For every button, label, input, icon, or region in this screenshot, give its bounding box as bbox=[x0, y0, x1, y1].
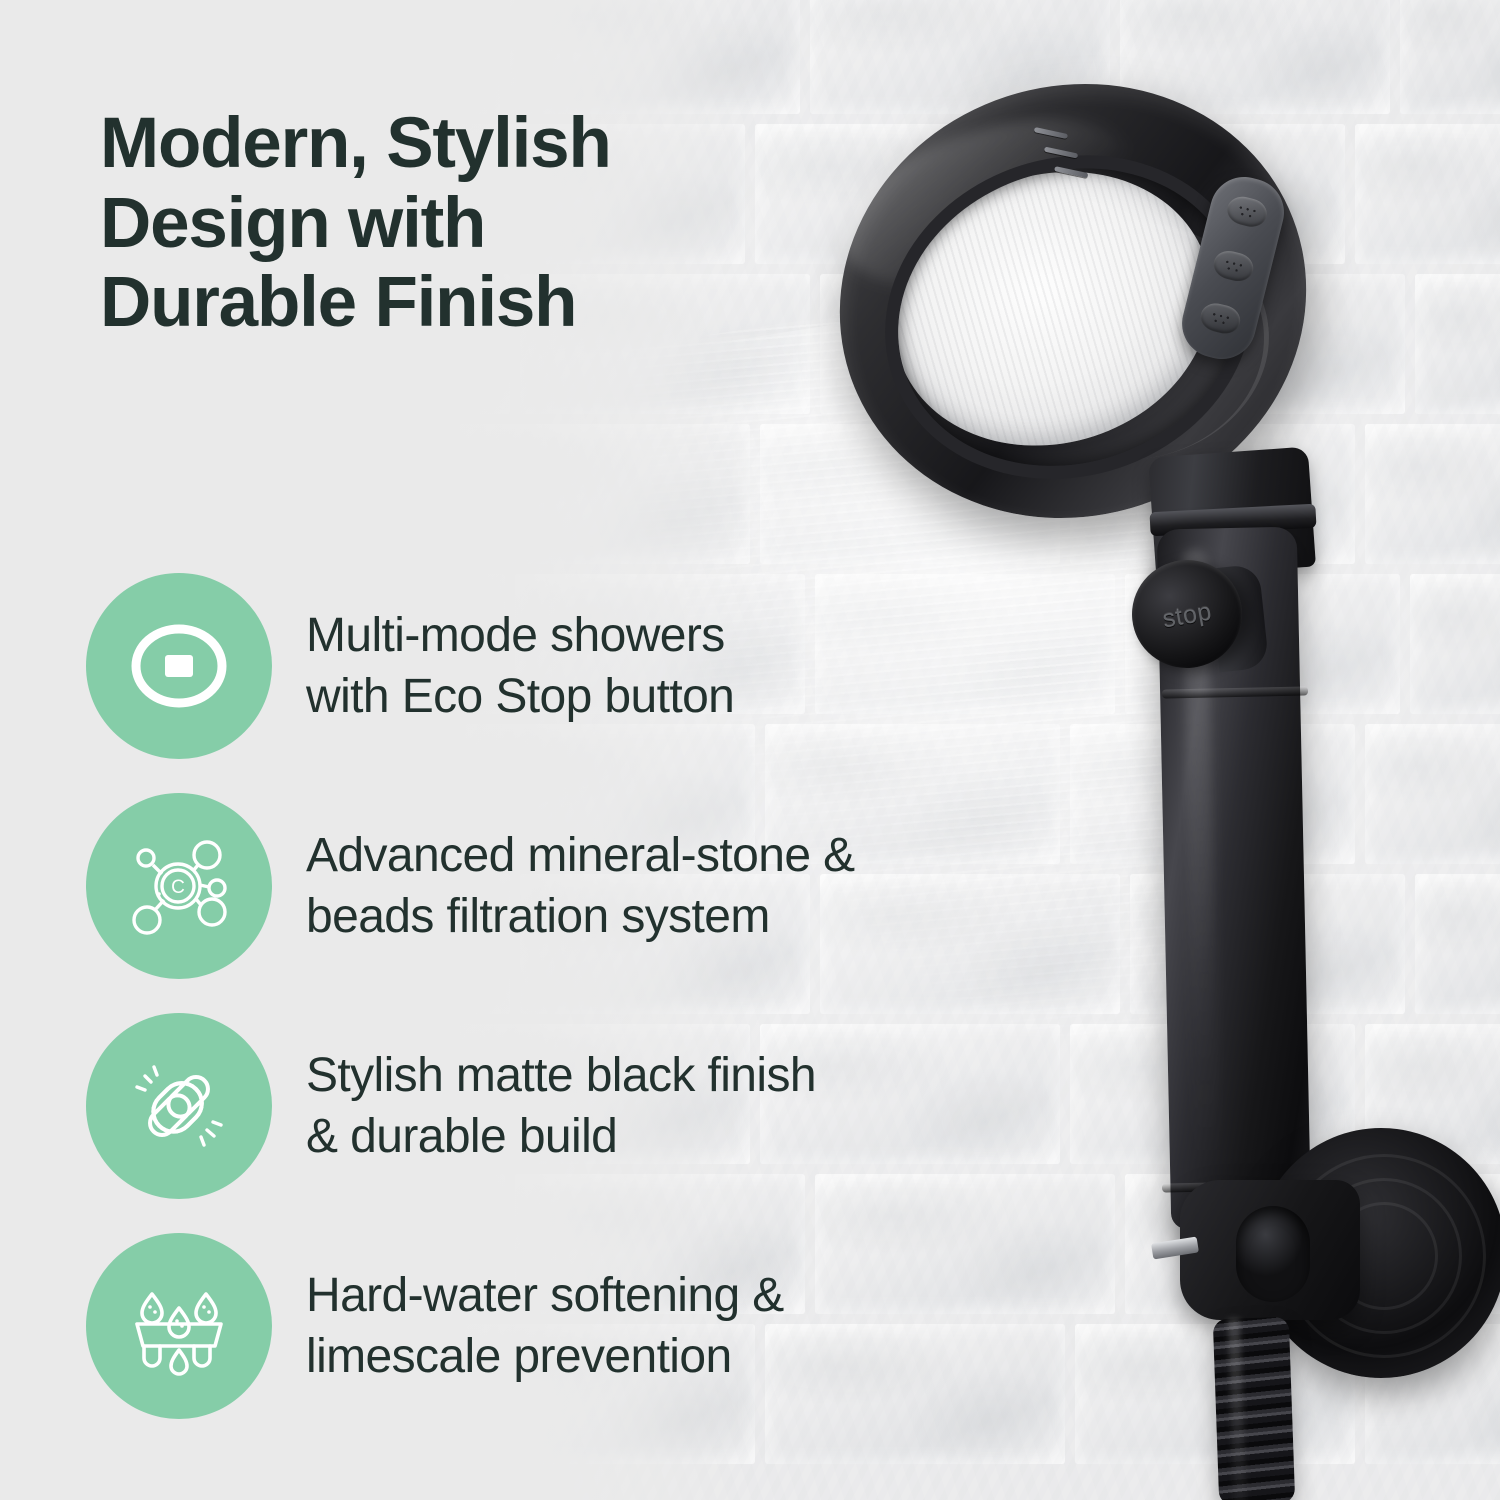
feature-item-filtration: C Advanced mineral-stone & beads filtrat bbox=[86, 776, 1076, 996]
stop-button-icon bbox=[123, 610, 235, 722]
feature-text-2-line-2: beads filtration system bbox=[306, 886, 855, 947]
mineral-molecule-icon: C bbox=[121, 828, 237, 944]
feature-text-1: Multi-mode showers with Eco Stop button bbox=[306, 605, 734, 728]
feature-text-2: Advanced mineral-stone & beads filtratio… bbox=[306, 825, 855, 948]
feature-text-3: Stylish matte black finish & durable bui… bbox=[306, 1045, 816, 1168]
feature-item-finish: Stylish matte black finish & durable bui… bbox=[86, 996, 1076, 1216]
product-feature-graphic: stop Modern, Stylish Design with Durable… bbox=[0, 0, 1500, 1500]
feature-text-3-line-1: Stylish matte black finish bbox=[306, 1045, 816, 1106]
feature-item-multi-mode: Multi-mode showers with Eco Stop button bbox=[86, 556, 1076, 776]
feature-text-2-line-1: Advanced mineral-stone & bbox=[306, 825, 855, 886]
feature-text-3-line-2: & durable build bbox=[306, 1106, 816, 1167]
feature-list: Multi-mode showers with Eco Stop button … bbox=[86, 556, 1076, 1436]
feature-item-hard-water: Hard-water softening & limescale prevent… bbox=[86, 1216, 1076, 1436]
feature-text-1-line-1: Multi-mode showers bbox=[306, 605, 734, 666]
feature-text-4-line-2: limescale prevention bbox=[306, 1326, 784, 1387]
feature-icon-badge-1 bbox=[86, 573, 272, 759]
feature-text-4-line-1: Hard-water softening & bbox=[306, 1265, 784, 1326]
chain-link-durability-icon bbox=[121, 1048, 237, 1164]
feature-icon-badge-4 bbox=[86, 1233, 272, 1419]
feature-text-1-line-2: with Eco Stop button bbox=[306, 666, 734, 727]
svg-text:C: C bbox=[171, 877, 185, 898]
headline-line-3: Durable Finish bbox=[100, 263, 760, 343]
feature-text-4: Hard-water softening & limescale prevent… bbox=[306, 1265, 784, 1388]
water-filter-droplets-icon bbox=[121, 1268, 237, 1384]
feature-icon-badge-3 bbox=[86, 1013, 272, 1199]
page-title: Modern, Stylish Design with Durable Fini… bbox=[100, 104, 760, 343]
feature-icon-badge-2: C bbox=[86, 793, 272, 979]
headline-line-1: Modern, Stylish bbox=[100, 104, 760, 184]
headline-line-2: Design with bbox=[100, 184, 760, 264]
